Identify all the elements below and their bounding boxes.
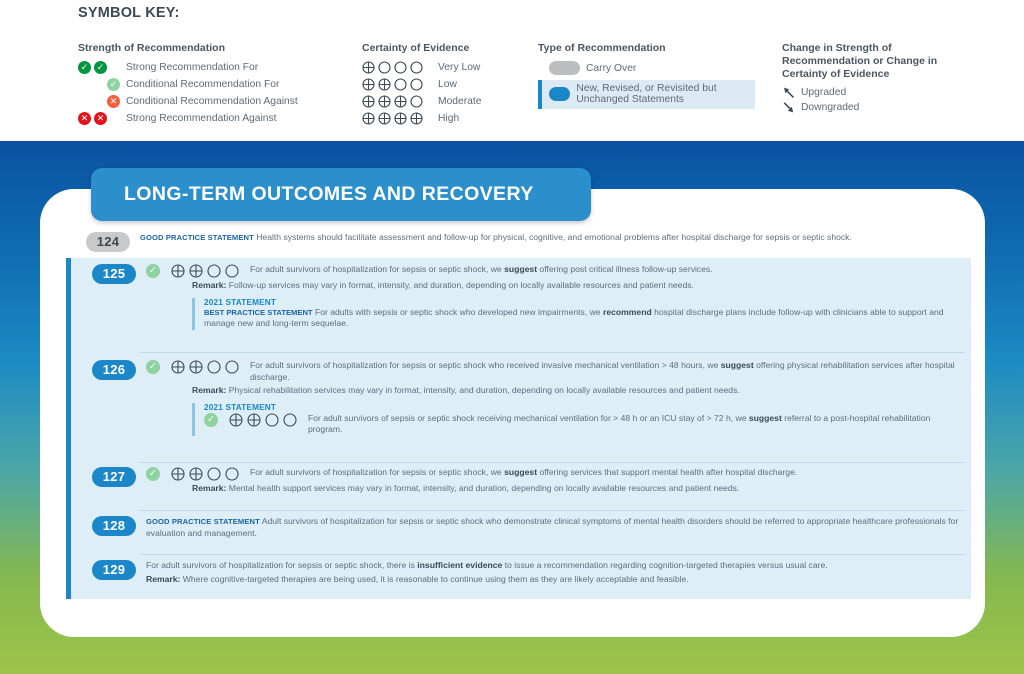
statement-sentence: For adult survivors of hospitalization f…: [250, 467, 966, 479]
check-light-green-icon: ✓: [146, 360, 160, 374]
legend-strength-item-strong-against: ✕ ✕ Strong Recommendation Against: [78, 111, 298, 126]
remark-text: Mental health support services may vary …: [226, 483, 739, 493]
grade-circles-2: [171, 467, 239, 481]
grade-filled-icon: [394, 112, 407, 125]
grade-empty-icon: [207, 467, 221, 481]
good-practice-statement-tag: GOOD PRACTICE STATEMENT: [146, 517, 260, 526]
panel-left-rail: [66, 258, 71, 599]
statement-number-pill: 126: [92, 360, 136, 380]
section-title: LONG-TERM OUTCOMES AND RECOVERY: [124, 183, 534, 206]
statement-text-post: offering post critical illness follow-up…: [537, 264, 713, 274]
legend-certainty-label: High: [438, 113, 459, 124]
statement-body: For adult survivors of hospitalization f…: [146, 560, 966, 585]
nested-text-bold: suggest: [749, 413, 782, 423]
nested-statement-text: BEST PRACTICE STATEMENT For adults with …: [204, 307, 964, 330]
check-dark-green-icon: ✓: [78, 61, 91, 74]
nested-statement-text: For adult survivors of sepsis or septic …: [308, 413, 964, 436]
nested-2021-statement: 2021 STATEMENT ✓ For adult survivors of …: [192, 403, 964, 436]
grade-filled-icon: [362, 78, 375, 91]
grade-filled-icon: [362, 112, 375, 125]
remark-text: Physical rehabilitation services may var…: [226, 385, 739, 395]
statement-text-bold: insufficient evidence: [417, 560, 502, 570]
legend-type-item-new-revised: New, Revised, or Revisited but Unchanged…: [538, 80, 755, 109]
grade-filled-icon: [171, 264, 185, 278]
statement-text-pre: For adult survivors of hospitalization f…: [146, 560, 417, 570]
statement-divider: [140, 554, 965, 555]
best-practice-statement-tag: BEST PRACTICE STATEMENT: [204, 308, 313, 317]
legend-certainty-label: Low: [438, 79, 457, 90]
statement-text-pre: For adult survivors of hospitalization f…: [250, 467, 504, 477]
grade-filled-icon: [410, 112, 423, 125]
statement-text-bold: suggest: [504, 467, 537, 477]
symbol-key-section: SYMBOL KEY: Strength of Recommendation ✓…: [0, 0, 1024, 141]
statement-text: GOOD PRACTICE STATEMENT Health systems s…: [140, 232, 970, 244]
grade-empty-icon: [410, 78, 423, 91]
grade-circles-4: [362, 112, 432, 125]
grade-filled-icon: [171, 467, 185, 481]
legend-strength-label: Strong Recommendation Against: [126, 113, 277, 124]
statement-row-128[interactable]: 128 GOOD PRACTICE STATEMENT Adult surviv…: [92, 516, 972, 539]
legend-change-heading: Change in Strength of Recommendation or …: [782, 42, 972, 80]
grade-circles-2: [362, 78, 432, 91]
statement-divider: [140, 510, 965, 511]
statement-body: ✓ For adult survivors of hospitalization…: [146, 360, 966, 436]
legend-change-label: Downgraded: [801, 102, 859, 113]
remark-label: Remark:: [192, 385, 226, 395]
nested-text-bold: recommend: [603, 307, 652, 317]
check-light-green-icon: ✓: [107, 78, 120, 91]
legend-type-label: Carry Over: [586, 63, 636, 74]
check-light-green-icon-pair: ✓: [78, 78, 120, 91]
grade-circles-3: [362, 95, 432, 108]
statement-row-125[interactable]: 125 ✓ For adult survivors of hospitaliza…: [92, 264, 972, 330]
statement-number-pill: 128: [92, 516, 136, 536]
legend-strength-label: Conditional Recommendation Against: [126, 96, 298, 107]
arrow-up-left-icon: [782, 86, 795, 99]
statement-text-post: offering services that support mental he…: [537, 467, 797, 477]
grade-circles-2: [171, 264, 239, 278]
legend-type-of-recommendation: Type of Recommendation Carry Over New, R…: [538, 42, 755, 109]
check-light-green-icon: ✓: [146, 264, 160, 278]
legend-certainty-item-high: High: [362, 111, 482, 126]
legend-type-label: New, Revised, or Revisited but Unchanged…: [576, 83, 749, 106]
arrow-down-right-icon: [782, 101, 795, 114]
legend-certainty-heading: Certainty of Evidence: [362, 42, 482, 55]
statement-divider: [140, 462, 965, 463]
grade-circles-2: [229, 413, 297, 427]
nested-text-pre: For adult survivors of sepsis or septic …: [308, 413, 749, 423]
grade-empty-icon: [225, 264, 239, 278]
legend-type-heading: Type of Recommendation: [538, 42, 755, 55]
legend-strength-label: Conditional Recommendation For: [126, 79, 279, 90]
remark-label: Remark:: [192, 280, 226, 290]
legend-change-item-downgraded: Downgraded: [782, 100, 972, 115]
grade-empty-icon: [225, 360, 239, 374]
statement-number-pill: 125: [92, 264, 136, 284]
grade-filled-icon: [189, 360, 203, 374]
legend-type-item-carry-over: Carry Over: [538, 60, 755, 77]
grade-empty-icon: [410, 61, 423, 74]
statement-text-bold: suggest: [504, 264, 537, 274]
grade-filled-icon: [247, 413, 261, 427]
remark-label: Remark:: [192, 483, 226, 493]
legend-certainty-of-evidence: Certainty of Evidence Very Low Low Moder…: [362, 42, 482, 128]
grade-filled-icon: [394, 95, 407, 108]
statement-remark: Remark: Follow-up services may vary in f…: [192, 280, 966, 292]
nested-text-pre: For adults with sepsis or septic shock w…: [315, 307, 603, 317]
grade-filled-icon: [362, 61, 375, 74]
grade-filled-icon: [189, 467, 203, 481]
statement-sentence: For adult survivors of hospitalization f…: [250, 264, 966, 276]
nested-statement-heading: 2021 STATEMENT: [204, 298, 964, 307]
statement-symbol-line: ✓ For adult survivors of hospitalization…: [146, 360, 966, 383]
grade-circles-1: [362, 61, 432, 74]
new-revised-pill-icon: [549, 87, 570, 101]
statement-text-pre: For adult survivors of hospitalization f…: [250, 264, 504, 274]
legend-strength-of-recommendation: Strength of Recommendation ✓ ✓ Strong Re…: [78, 42, 298, 128]
statement-symbol-line: ✓ For adult survivors of hospitalization…: [146, 264, 966, 278]
statement-row-124[interactable]: 124 GOOD PRACTICE STATEMENT Health syste…: [86, 232, 976, 252]
grade-filled-icon: [189, 264, 203, 278]
legend-strength-item-conditional-for: ✓ Conditional Recommendation For: [78, 77, 298, 92]
x-dark-red-icon: ✕: [78, 112, 91, 125]
legend-certainty-item-very-low: Very Low: [362, 60, 482, 75]
statement-body: ✓ For adult survivors of hospitalization…: [146, 467, 966, 495]
check-light-green-icon: ✓: [146, 467, 160, 481]
remark-text: Where cognitive-targeted therapies are b…: [180, 574, 688, 584]
legend-change-item-upgraded: Upgraded: [782, 85, 972, 100]
grade-filled-icon: [362, 95, 375, 108]
statement-remark: Remark: Physical rehabilitation services…: [192, 385, 966, 397]
statement-body: GOOD PRACTICE STATEMENT Health systems s…: [140, 232, 970, 244]
x-dark-red-icon-pair: ✕ ✕: [78, 112, 120, 125]
statement-text-pre: For adult survivors of hospitalization f…: [250, 360, 721, 370]
x-light-red-icon-pair: ✕: [78, 95, 120, 108]
grade-filled-icon: [378, 78, 391, 91]
legend-certainty-label: Very Low: [438, 62, 480, 73]
statement-sentence: For adult survivors of hospitalization f…: [146, 560, 966, 572]
legend-change-label: Upgraded: [801, 87, 846, 98]
legend-change-in-strength: Change in Strength of Recommendation or …: [782, 42, 972, 115]
grade-empty-icon: [394, 78, 407, 91]
legend-strength-heading: Strength of Recommendation: [78, 42, 298, 55]
legend-strength-item-strong-for: ✓ ✓ Strong Recommendation For: [78, 60, 298, 75]
statement-body: GOOD PRACTICE STATEMENT Adult survivors …: [146, 516, 966, 539]
statement-divider: [140, 352, 965, 353]
statement-number-pill: 127: [92, 467, 136, 487]
legend-strength-label: Strong Recommendation For: [126, 62, 258, 73]
legend-certainty-item-moderate: Moderate: [362, 94, 482, 109]
grade-empty-icon: [207, 360, 221, 374]
statement-remark: Remark: Where cognitive-targeted therapi…: [146, 574, 966, 586]
grade-empty-icon: [410, 95, 423, 108]
grade-filled-icon: [378, 112, 391, 125]
grade-filled-icon: [229, 413, 243, 427]
statement-number-pill: 124: [86, 232, 130, 252]
check-light-green-icon: ✓: [204, 413, 218, 427]
legend-certainty-label: Moderate: [438, 96, 482, 107]
nested-symbol-line: ✓ For adult survivors of sepsis or septi…: [204, 413, 964, 436]
x-light-red-icon: ✕: [107, 95, 120, 108]
statement-sentence: For adult survivors of hospitalization f…: [250, 360, 966, 383]
carry-over-pill-icon: [549, 61, 580, 75]
statement-symbol-line: ✓ For adult survivors of hospitalization…: [146, 467, 966, 481]
grade-circles-2: [171, 360, 239, 374]
grade-filled-icon: [378, 95, 391, 108]
statement-sentence: Adult survivors of hospitalization for s…: [146, 516, 958, 538]
x-dark-red-icon: ✕: [94, 112, 107, 125]
check-dark-green-icon: ✓: [94, 61, 107, 74]
good-practice-statement-tag: GOOD PRACTICE STATEMENT: [140, 233, 254, 242]
grade-empty-icon: [283, 413, 297, 427]
grade-empty-icon: [265, 413, 279, 427]
statement-number-pill: 129: [92, 560, 136, 580]
remark-text: Follow-up services may vary in format, i…: [226, 280, 694, 290]
remark-label: Remark:: [146, 574, 180, 584]
statement-row-126[interactable]: 126 ✓ For adult survivors of hospitaliza…: [92, 360, 972, 436]
grade-filled-icon: [171, 360, 185, 374]
legend-strength-item-conditional-against: ✕ Conditional Recommendation Against: [78, 94, 298, 109]
symbol-key-title: SYMBOL KEY:: [78, 5, 180, 21]
nested-2021-statement: 2021 STATEMENT BEST PRACTICE STATEMENT F…: [192, 298, 964, 330]
statement-remark: Remark: Mental health support services m…: [192, 483, 966, 495]
statement-text-post: to issue a recommendation regarding cogn…: [502, 560, 827, 570]
grade-empty-icon: [378, 61, 391, 74]
statement-sentence: Health systems should facilitate assessm…: [256, 232, 852, 242]
statement-text-bold: suggest: [721, 360, 754, 370]
grade-empty-icon: [394, 61, 407, 74]
nested-statement-heading: 2021 STATEMENT: [204, 403, 964, 412]
grade-empty-icon: [207, 264, 221, 278]
statement-body: ✓ For adult survivors of hospitalization…: [146, 264, 966, 330]
statement-text: GOOD PRACTICE STATEMENT Adult survivors …: [146, 516, 966, 539]
statement-row-129[interactable]: 129 For adult survivors of hospitalizati…: [92, 560, 972, 585]
check-dark-green-icon-pair: ✓ ✓: [78, 61, 120, 74]
statement-row-127[interactable]: 127 ✓ For adult survivors of hospitaliza…: [92, 467, 972, 495]
legend-certainty-item-low: Low: [362, 77, 482, 92]
grade-empty-icon: [225, 467, 239, 481]
section-banner: LONG-TERM OUTCOMES AND RECOVERY: [91, 168, 591, 221]
